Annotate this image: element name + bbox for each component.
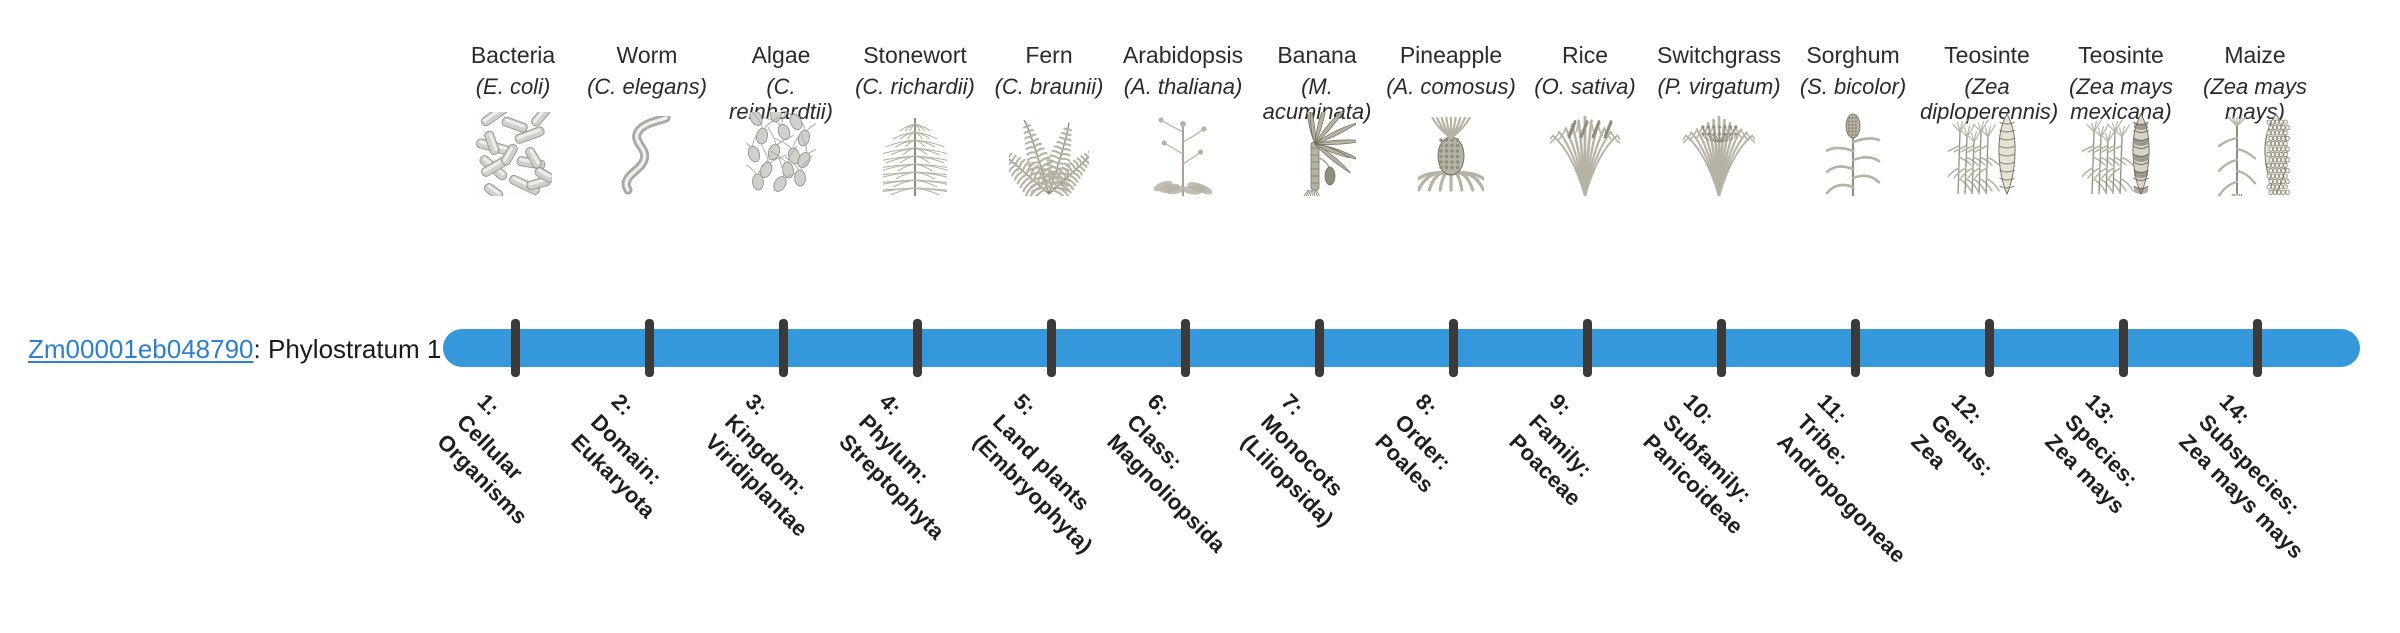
species-common-name: Algae [714,42,848,68]
sorghum-plant-icon [1786,108,1920,196]
species-column: Arabidopsis(A. thaliana) [1116,0,1250,310]
arabidopsis-rosette-icon [1116,108,1250,196]
nematode-worm-icon [580,108,714,196]
species-scientific-name: (A. comosus) [1384,74,1518,99]
species-common-name: Sorghum [1786,42,1920,68]
species-scientific-name: (C. elegans) [580,74,714,99]
species-column: Sorghum(S. bicolor) [1786,0,1920,310]
species-column: Maize(Zea mays mays) [2188,0,2322,310]
species-common-name: Teosinte [2054,42,2188,68]
switchgrass-plant-icon [1652,108,1786,196]
species-common-name: Pineapple [1384,42,1518,68]
stonewort-chara-icon [848,108,982,196]
chlamydomonas-algae-icon [714,108,848,196]
species-scientific-name: (A. thaliana) [1116,74,1250,99]
bacteria-rods-icon [446,108,580,196]
species-common-name: Banana [1250,42,1384,68]
gene-label-separator: : [254,334,268,364]
species-scientific-name: (P. virgatum) [1652,74,1786,99]
pineapple-plant-icon [1384,108,1518,196]
species-common-name: Maize [2188,42,2322,68]
species-column: Fern(C. braunii) [982,0,1116,310]
species-common-name: Stonewort [848,42,982,68]
rice-plant-icon [1518,108,1652,196]
teosinte-plant-and-ear-icon [2054,108,2188,196]
species-column: Teosinte(Zea mays mexicana) [2054,0,2188,310]
species-scientific-name: (C. richardii) [848,74,982,99]
species-column: Switchgrass(P. virgatum) [1652,0,1786,310]
species-column: Worm(C. elegans) [580,0,714,310]
species-column: Bacteria(E. coli) [446,0,580,310]
phylostratigraphy-figure: Zm00001eb048790: Phylostratum 1 Bacteria… [0,0,2400,580]
phylostratum-value: Phylostratum 1 [268,334,441,364]
species-column: Pineapple(A. comosus) [1384,0,1518,310]
species-common-name: Teosinte [1920,42,2054,68]
species-column: Algae(C. reinhardtii) [714,0,848,310]
gene-phylostratum-label: Zm00001eb048790: Phylostratum 1 [28,334,441,365]
species-common-name: Arabidopsis [1116,42,1250,68]
species-common-name: Switchgrass [1652,42,1786,68]
species-column: Teosinte(Zea diploperennis) [1920,0,2054,310]
species-common-name: Bacteria [446,42,580,68]
gene-id-link[interactable]: Zm00001eb048790 [28,334,254,364]
species-common-name: Rice [1518,42,1652,68]
species-scientific-name: (O. sativa) [1518,74,1652,99]
species-common-name: Worm [580,42,714,68]
banana-plant-icon [1250,108,1384,196]
species-scientific-name: (S. bicolor) [1786,74,1920,99]
species-scientific-name: (C. braunii) [982,74,1116,99]
species-column: Banana(M. acuminata) [1250,0,1384,310]
teosinte-plant-and-ear-icon [1920,108,2054,196]
fern-frond-icon [982,108,1116,196]
species-common-name: Fern [982,42,1116,68]
species-column: Stonewort(C. richardii) [848,0,982,310]
species-scientific-name: (E. coli) [446,74,580,99]
maize-plant-and-ear-icon [2188,108,2322,196]
species-column: Rice(O. sativa) [1518,0,1652,310]
